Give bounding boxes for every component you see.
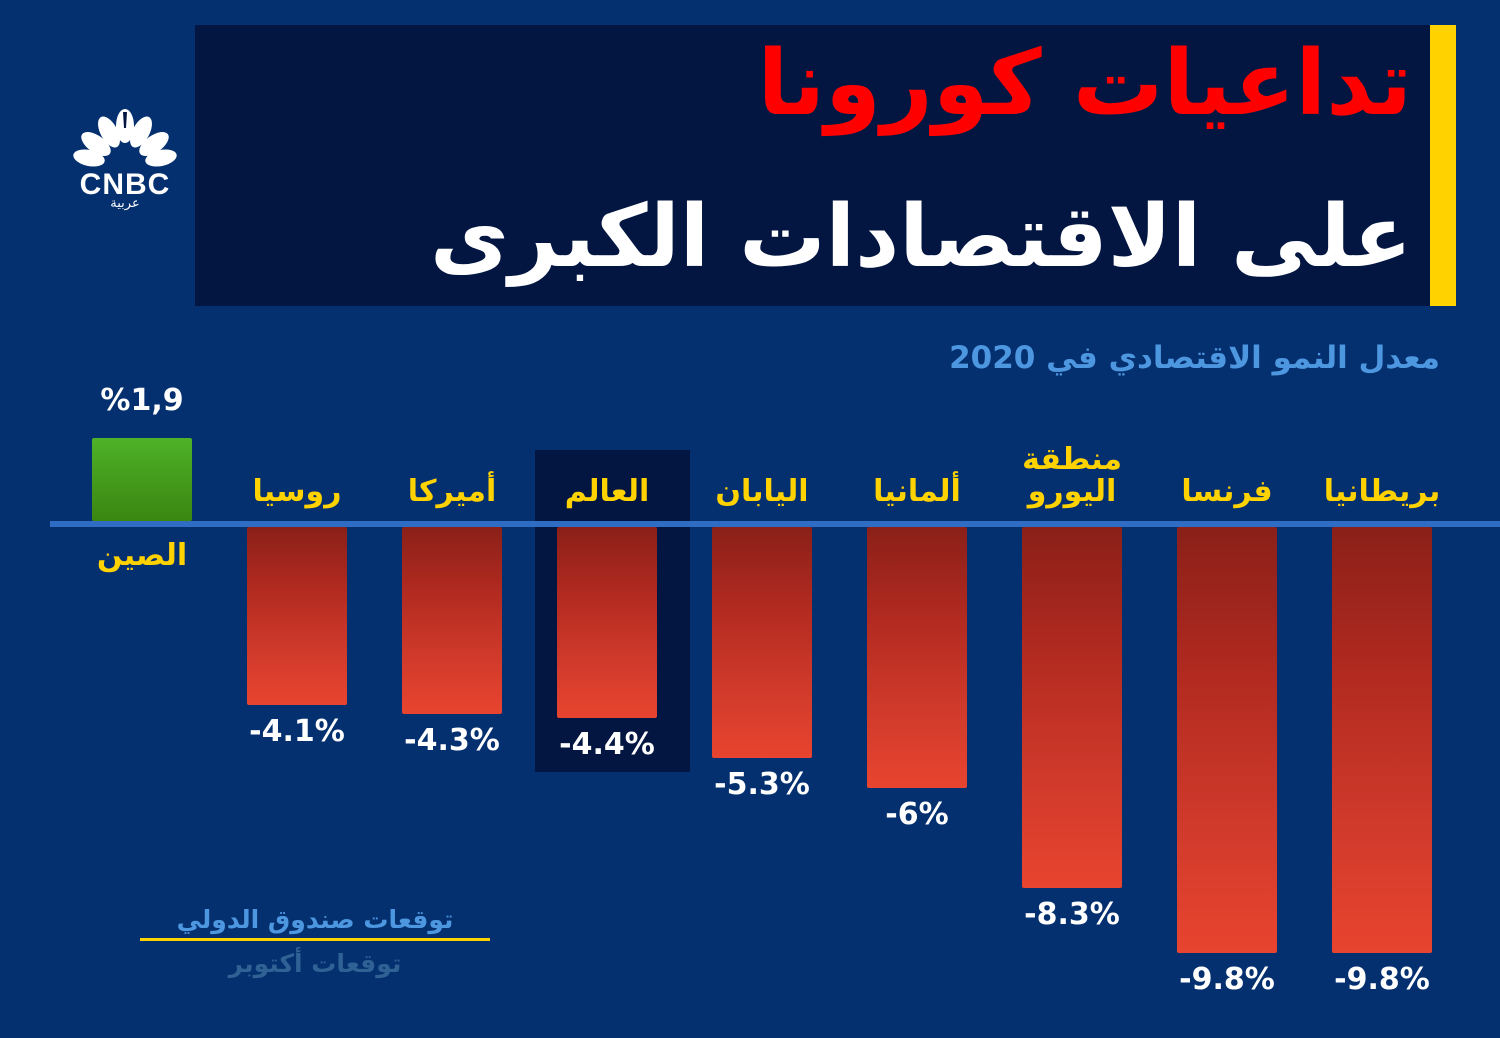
value-label-1: %1,9 xyxy=(55,383,230,418)
category-label-line: فرنسا xyxy=(1145,476,1310,508)
category-label-line: اليورو xyxy=(990,476,1155,508)
category-label-line: العالم xyxy=(525,476,690,508)
category-label-line: الصين xyxy=(60,540,225,572)
category-label-6: ألمانيا xyxy=(835,476,1000,508)
legend-note-label: توقعات أكتوبر xyxy=(140,941,490,978)
legend: توقعات صندوق الدولي توقعات أكتوبر xyxy=(140,905,490,978)
value-label-6: -6% xyxy=(830,797,1005,832)
bar-9 xyxy=(1332,527,1432,953)
bar-2 xyxy=(247,527,347,705)
infographic-root: تداعيات كورونا على الاقتصادات الكبرى CNB… xyxy=(0,0,1500,1038)
category-label-8: فرنسا xyxy=(1145,476,1310,508)
bar-7 xyxy=(1022,527,1122,888)
value-label-8: -9.8% xyxy=(1140,962,1315,997)
category-label-line: اليابان xyxy=(680,476,845,508)
category-label-1: الصين xyxy=(60,540,225,572)
value-label-3: -4.3% xyxy=(365,723,540,758)
category-label-7: منطقةاليورو xyxy=(990,444,1155,507)
category-label-2: روسيا xyxy=(215,476,380,508)
category-label-line: أميركا xyxy=(370,476,535,508)
bar-3 xyxy=(402,527,502,714)
zero-axis-line xyxy=(50,521,1500,527)
value-label-7: -8.3% xyxy=(985,897,1160,932)
category-label-line: بريطانيا xyxy=(1300,476,1465,508)
value-label-9: -9.8% xyxy=(1295,962,1470,997)
bar-6 xyxy=(867,527,967,788)
bar-5 xyxy=(712,527,812,758)
category-label-4: العالم xyxy=(525,476,690,508)
bar-chart: الصين%1,9روسيا-4.1%أميركا-4.3%العالم-4.4… xyxy=(0,0,1500,1038)
value-label-4: -4.4% xyxy=(520,727,695,762)
bar-4 xyxy=(557,527,657,718)
value-label-2: -4.1% xyxy=(210,714,385,749)
category-label-line: روسيا xyxy=(215,476,380,508)
bar-1 xyxy=(92,438,192,521)
category-label-3: أميركا xyxy=(370,476,535,508)
bar-8 xyxy=(1177,527,1277,953)
category-label-line: ألمانيا xyxy=(835,476,1000,508)
category-label-9: بريطانيا xyxy=(1300,476,1465,508)
value-label-5: -5.3% xyxy=(675,767,850,802)
category-label-5: اليابان xyxy=(680,476,845,508)
legend-source-label: توقعات صندوق الدولي xyxy=(140,905,490,938)
category-label-line: منطقة xyxy=(990,444,1155,476)
